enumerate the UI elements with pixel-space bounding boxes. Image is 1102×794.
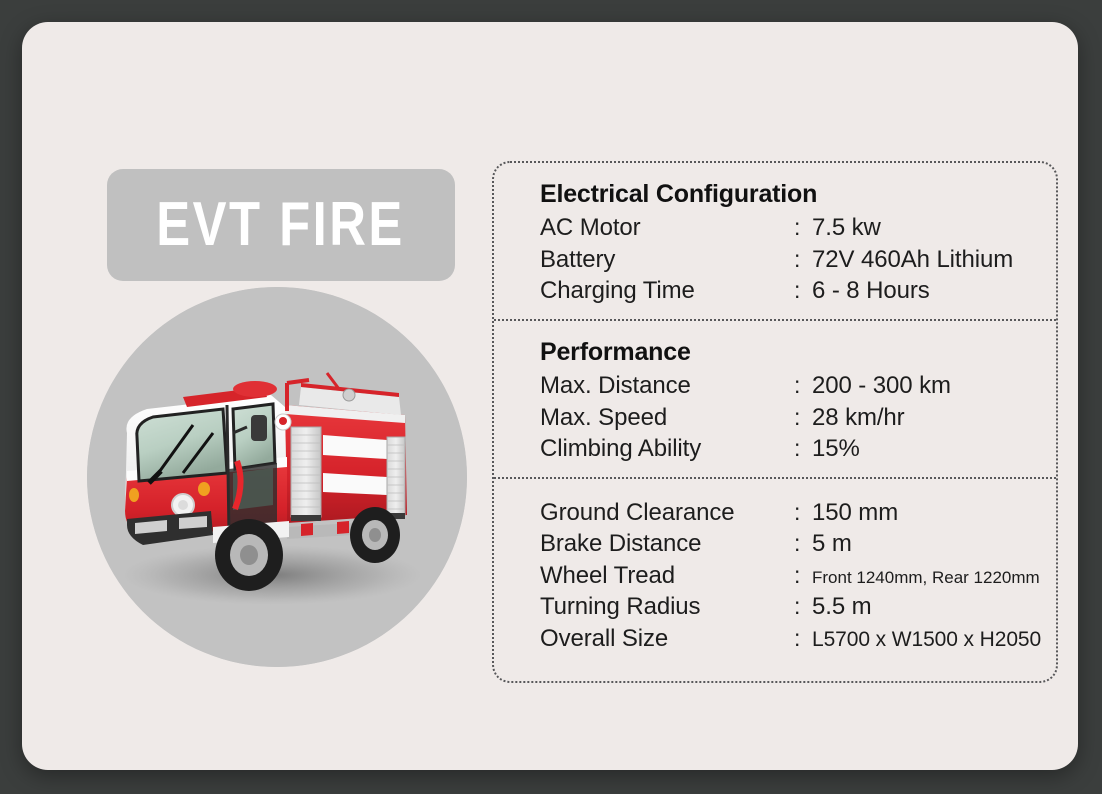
spec-value: 200 - 300 km <box>812 370 951 401</box>
spec-label: Max. Distance <box>540 370 794 401</box>
section-title: Performance <box>540 337 1056 368</box>
product-title-banner: EVT FIRE <box>107 169 455 281</box>
spec-value: 28 km/hr <box>812 402 905 433</box>
spec-colon: : <box>794 623 812 653</box>
spec-label: Ground Clearance <box>540 497 794 528</box>
spec-label: AC Motor <box>540 212 794 243</box>
spec-colon: : <box>794 433 812 463</box>
spec-colon: : <box>794 402 812 432</box>
spec-value: 15% <box>812 433 860 464</box>
spec-colon: : <box>794 591 812 621</box>
spec-value: 5.5 m <box>812 591 872 622</box>
spec-label: Battery <box>540 244 794 275</box>
section-title: Electrical Configuration <box>540 179 1056 210</box>
spec-row: Battery : 72V 460Ah Lithium <box>540 244 1056 275</box>
spec-label: Overall Size <box>540 623 794 654</box>
spec-section-performance: Performance Max. Distance : 200 - 300 km… <box>494 321 1056 479</box>
spec-colon: : <box>794 560 812 590</box>
spec-sheet-card: EVT FIRE <box>22 22 1078 770</box>
spec-label: Max. Speed <box>540 402 794 433</box>
spec-row: Max. Speed : 28 km/hr <box>540 402 1056 433</box>
spec-colon: : <box>794 497 812 527</box>
spec-label: Charging Time <box>540 275 794 306</box>
spec-value: 150 mm <box>812 497 898 528</box>
spec-colon: : <box>794 244 812 274</box>
spec-value: 6 - 8 Hours <box>812 275 930 306</box>
spec-colon: : <box>794 370 812 400</box>
electric-fire-truck-illustration <box>87 287 467 667</box>
spec-row: Turning Radius : 5.5 m <box>540 591 1056 622</box>
spec-value: 7.5 kw <box>812 212 881 243</box>
spec-row: AC Motor : 7.5 kw <box>540 212 1056 243</box>
product-media-column: EVT FIRE <box>84 142 484 702</box>
spec-value: 72V 460Ah Lithium <box>812 244 1013 275</box>
spec-colon: : <box>794 212 812 242</box>
spec-row: Wheel Tread : Front 1240mm, Rear 1220mm <box>540 560 1056 591</box>
specifications-panel: Electrical Configuration AC Motor : 7.5 … <box>492 161 1058 683</box>
spec-label: Brake Distance <box>540 528 794 559</box>
spec-value: L5700 x W1500 x H2050 <box>812 626 1041 654</box>
page-title: EVT FIRE <box>157 194 405 256</box>
spec-row: Overall Size : L5700 x W1500 x H2050 <box>540 623 1056 654</box>
spec-label: Turning Radius <box>540 591 794 622</box>
spec-label: Wheel Tread <box>540 560 794 591</box>
spec-value: 5 m <box>812 528 852 559</box>
spec-colon: : <box>794 528 812 558</box>
spec-label: Climbing Ability <box>540 433 794 464</box>
spec-row: Charging Time : 6 - 8 Hours <box>540 275 1056 306</box>
product-photo <box>87 287 467 667</box>
spec-row: Brake Distance : 5 m <box>540 528 1056 559</box>
spec-colon: : <box>794 275 812 305</box>
spec-value: Front 1240mm, Rear 1220mm <box>812 567 1040 589</box>
spec-row: Max. Distance : 200 - 300 km <box>540 370 1056 401</box>
spec-section-dimensions: Ground Clearance : 150 mm Brake Distance… <box>494 479 1056 681</box>
spec-row: Climbing Ability : 15% <box>540 433 1056 464</box>
spec-section-electrical: Electrical Configuration AC Motor : 7.5 … <box>494 163 1056 321</box>
spec-row: Ground Clearance : 150 mm <box>540 497 1056 528</box>
